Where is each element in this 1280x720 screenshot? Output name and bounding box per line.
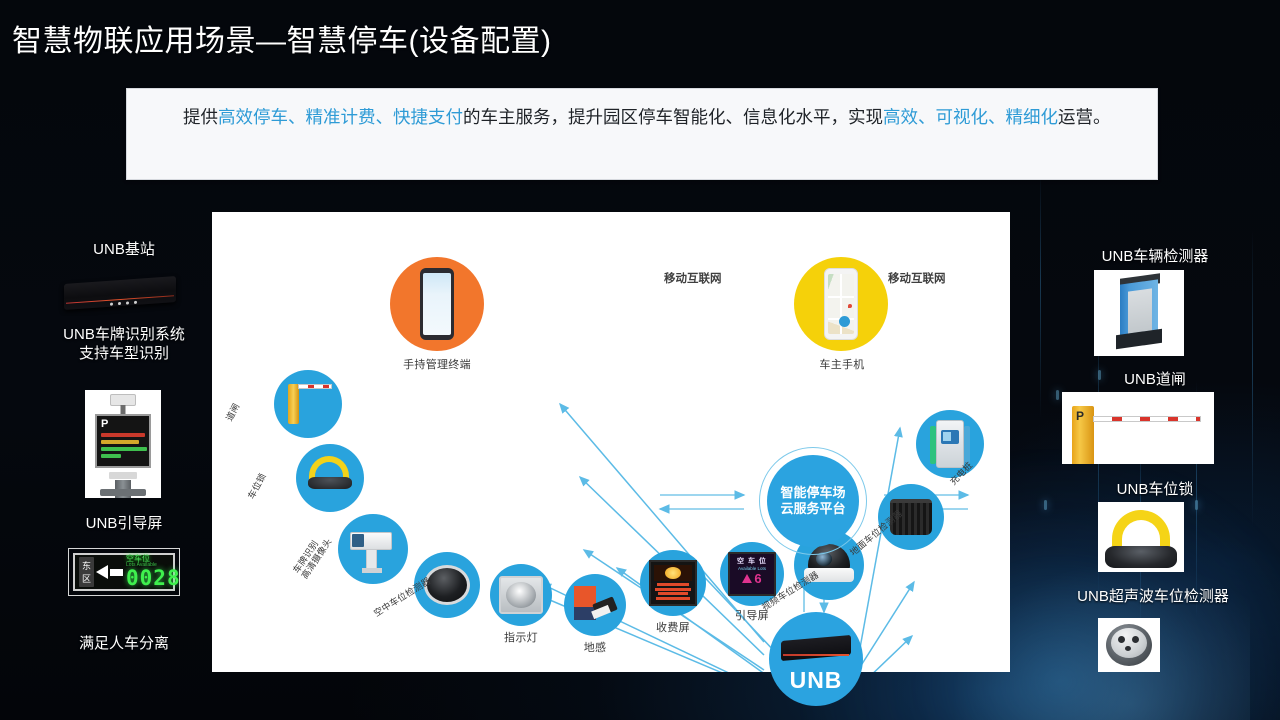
owner-phone-map-screen: [828, 274, 854, 334]
desc-text-1: 提供: [183, 107, 218, 127]
caption-guidance-display: 引导屏: [720, 610, 784, 623]
label-mobile-internet-right: 移动互联网: [888, 270, 946, 286]
node-unb-hub[interactable]: UNB: [769, 612, 863, 706]
led-screen: 东区 空车位 Lots Available 0028: [73, 553, 175, 591]
cloud-label-line2: 云服务平台: [780, 501, 845, 517]
left-label-lpr-system: UNB车牌识别系统 支持车型识别: [24, 326, 224, 364]
node-barrier-gate[interactable]: [274, 370, 342, 438]
guidance-node-count: 6: [754, 572, 761, 585]
desc-text-2: 的车主服务，提升园区停车智能化、信息化水平，实现: [463, 107, 883, 127]
left-label-lpr-line2: 支持车型识别: [24, 345, 224, 364]
desc-highlight-2: 精准计费、: [306, 107, 394, 127]
hub-device-image: [781, 635, 851, 661]
caption-owner-phone: 车主手机: [792, 359, 892, 372]
right-label-parking-lock: UNB车位锁: [1040, 478, 1270, 499]
right-label-vehicle-detector: UNB车辆检测器: [1040, 245, 1270, 266]
image-parking-lock: [1098, 502, 1184, 572]
node-parking-lock[interactable]: [296, 444, 364, 512]
page-title: 智慧物联应用场景—智慧停车(设备配置): [12, 16, 551, 60]
gate-parking-symbol: P: [1076, 409, 1084, 423]
lpr-base: [100, 489, 146, 496]
hub-label: UNB: [790, 667, 843, 694]
gate-boom-arm: [1093, 416, 1201, 422]
caption-indicator-light: 指示灯: [490, 632, 552, 645]
lpr-parking-symbol: P: [101, 419, 145, 430]
desc-highlight-3: 快捷支付: [393, 107, 463, 127]
image-ultrasonic-detector: [1098, 618, 1160, 672]
desc-highlight-1: 高效停车、: [218, 107, 306, 127]
led-direction-arrow: [96, 565, 123, 579]
right-label-barrier-gate: UNB道闸: [1040, 368, 1270, 389]
description-panel: 提供高效停车、精准计费、快捷支付的车主服务，提升园区停车智能化、信息化水平，实现…: [126, 88, 1158, 180]
lpr-display-panel: P: [95, 414, 151, 468]
desc-highlight-4: 高效、可视化、精细化: [883, 107, 1058, 127]
node-lpr-camera[interactable]: [338, 514, 408, 584]
image-lpr-kiosk: P: [85, 390, 161, 498]
node-ground-sensor[interactable]: [564, 574, 626, 636]
caption-fee-display: 收费屏: [640, 622, 706, 635]
handheld-phone-screen: [423, 273, 451, 335]
caption-ground-sensor: 地感: [564, 642, 626, 655]
desc-text-3: 运营。: [1058, 107, 1111, 127]
left-label-pedestrian-separation: 满足人车分离: [28, 632, 220, 653]
cloud-label-line1: 智能停车场: [780, 485, 845, 501]
image-unb-base-station: [56, 266, 192, 316]
right-label-ultrasonic-detector: UNB超声波车位检测器: [1028, 585, 1278, 606]
guidance-node-en: Available Lots: [732, 566, 772, 571]
led-count-value: 0028: [126, 568, 180, 589]
left-label-guidance-screen: UNB引导屏: [28, 512, 220, 533]
handheld-phone-device: [420, 268, 454, 340]
guidance-node-cn: 空 车 位: [732, 556, 772, 566]
lpr-ticket-slot: [109, 472, 137, 479]
node-cloud-platform[interactable]: 智能停车场 云服务平台: [767, 455, 859, 547]
image-vehicle-detector: [1094, 270, 1184, 356]
base-station-device: [64, 276, 176, 310]
image-barrier-gate: P: [1062, 392, 1214, 464]
node-indicator-light[interactable]: [490, 564, 552, 626]
gate-post: P: [1072, 406, 1094, 464]
architecture-diagram-panel: 手持管理终端 智能停车场 云服务平台 车主手机 移动互联网 移动互联网 UNB: [212, 212, 1010, 672]
left-label-lpr-line1: UNB车牌识别系统: [24, 326, 224, 345]
image-guidance-led-screen: 东区 空车位 Lots Available 0028: [68, 548, 180, 596]
left-label-base-station: UNB基站: [28, 238, 220, 259]
caption-handheld-terminal: 手持管理终端: [387, 359, 487, 372]
owner-phone-device: [824, 268, 858, 340]
led-zone-label: 东区: [79, 557, 94, 587]
label-mobile-internet-left: 移动互联网: [664, 270, 722, 286]
lock-base: [1105, 546, 1177, 568]
node-handheld-terminal[interactable]: [390, 257, 484, 351]
detector-face-panel: [1128, 288, 1152, 333]
node-owner-phone[interactable]: [794, 257, 888, 351]
ultrasonic-face: [1111, 628, 1147, 658]
node-fee-display[interactable]: [640, 550, 706, 616]
